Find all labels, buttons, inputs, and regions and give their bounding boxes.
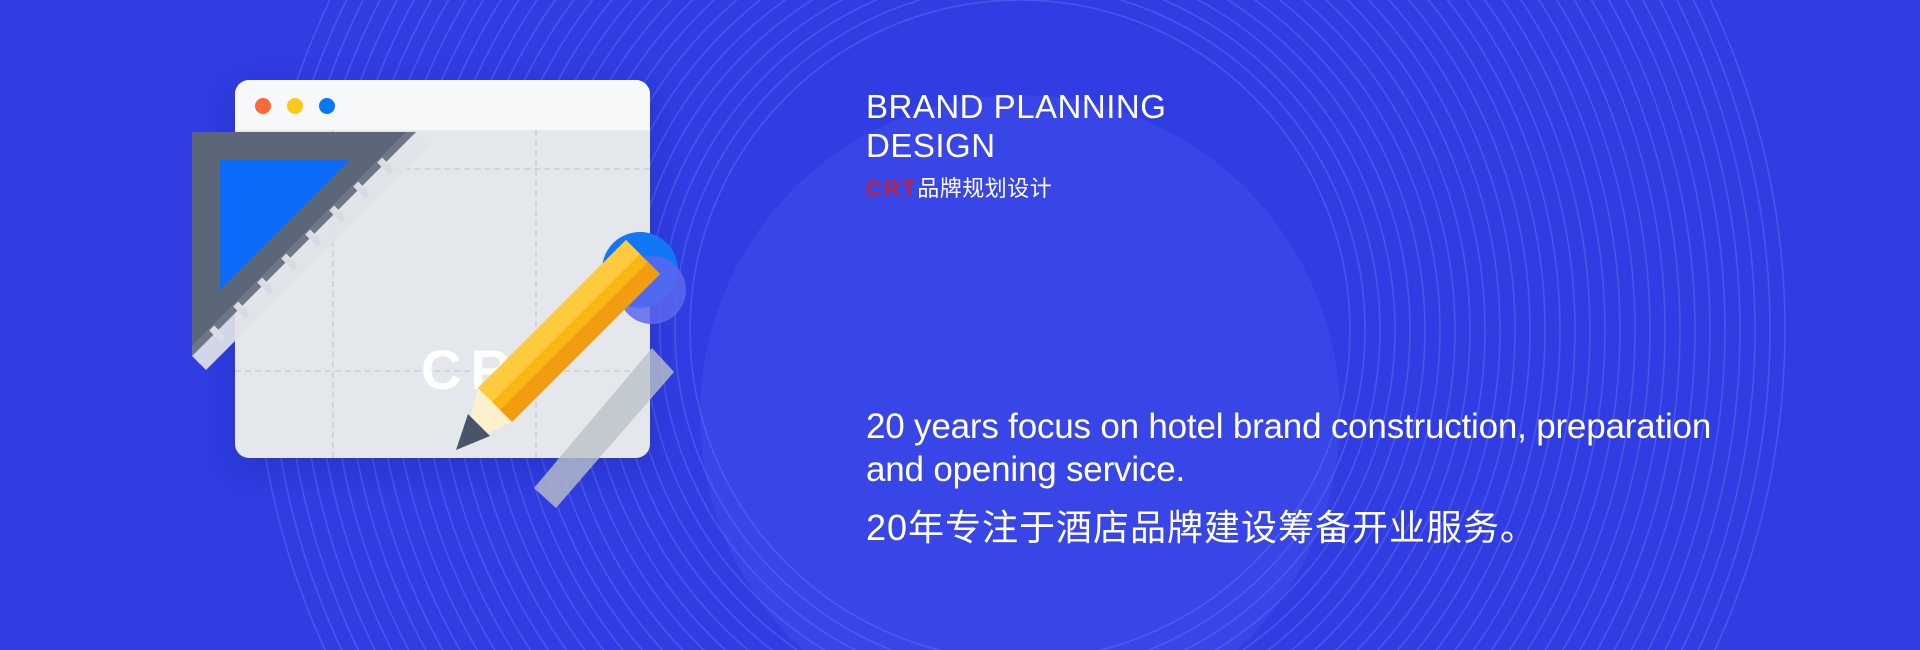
lead-copy-block: 20 years focus on hotel brand constructi… — [866, 405, 1746, 549]
set-square-ruler-icon — [190, 130, 430, 390]
lead-chinese: 20年专注于酒店品牌建设筹备开业服务。 — [866, 506, 1746, 549]
subtitle-brand: CRT — [866, 176, 917, 201]
page-title: BRAND PLANNING DESIGN — [866, 88, 1566, 166]
lead-english: 20 years focus on hotel brand constructi… — [866, 405, 1746, 492]
pencil-icon — [438, 216, 688, 516]
hero-banner: CRT — [0, 0, 1920, 650]
heading-block: BRAND PLANNING DESIGN CRT品牌规划设计 — [866, 88, 1566, 202]
subtitle-chinese: 品牌规划设计 — [917, 176, 1052, 201]
browser-title-bar — [235, 80, 650, 130]
close-dot[interactable] — [255, 98, 271, 114]
hero-illustration: CRT — [190, 68, 690, 488]
maximize-dot[interactable] — [319, 98, 335, 114]
subtitle-line: CRT品牌规划设计 — [866, 175, 1566, 203]
minimize-dot[interactable] — [287, 98, 303, 114]
